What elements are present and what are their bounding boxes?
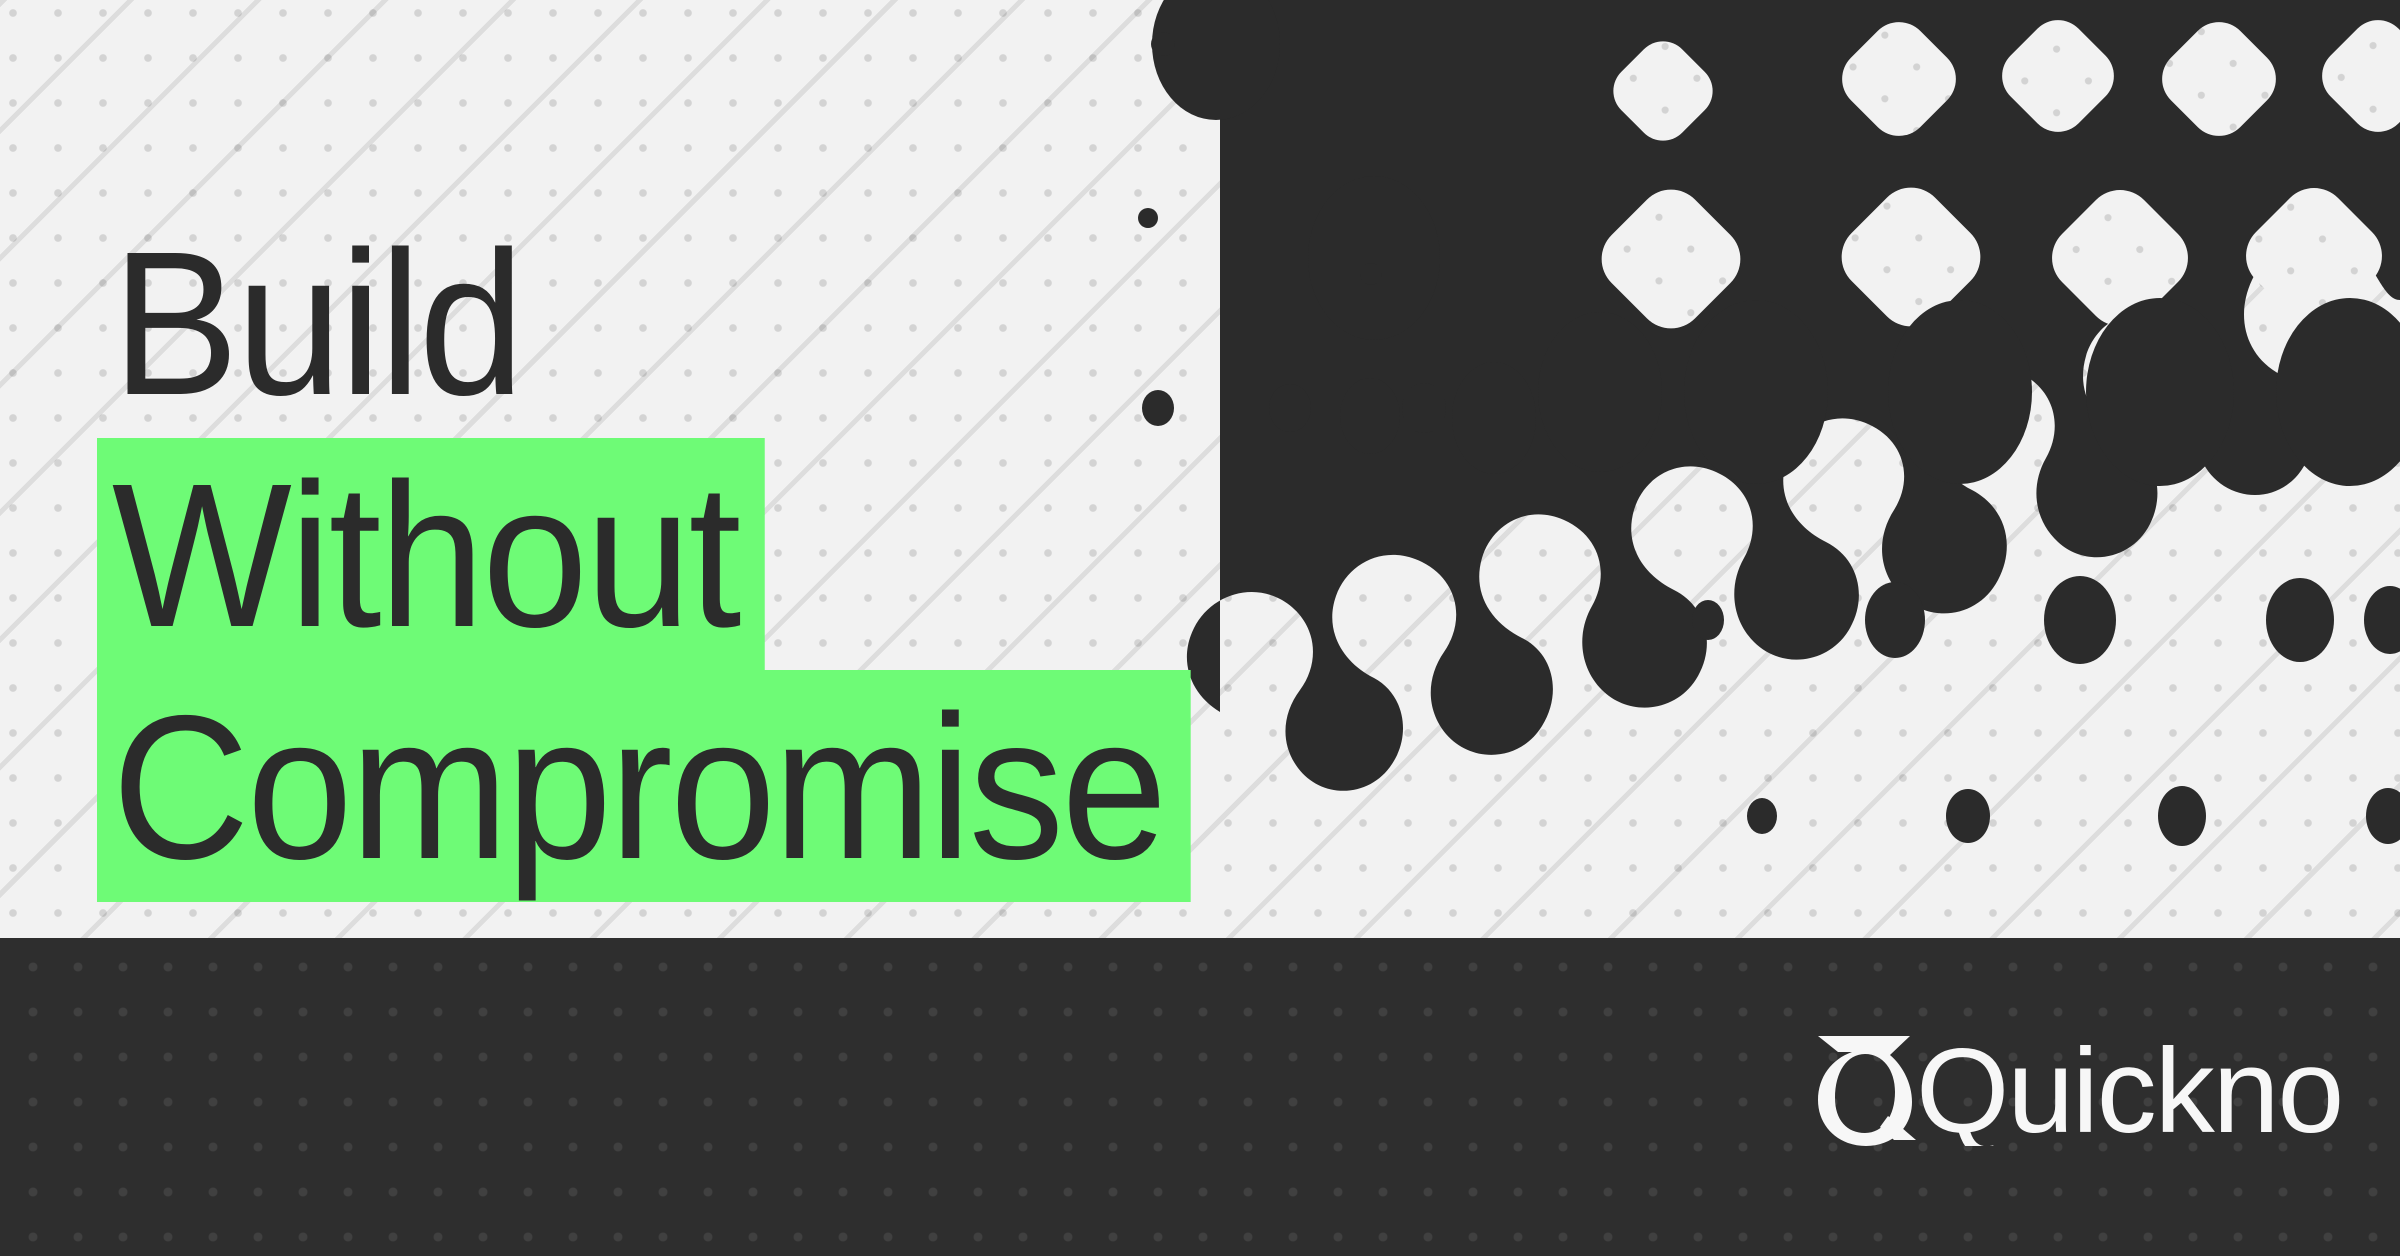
promo-banner: Build Without Compromise Quicknode	[0, 0, 2400, 1256]
headline-line-1-text: Build	[97, 250, 522, 398]
headline: Build Without Compromise	[97, 206, 1273, 902]
quicknode-logo: Quicknode	[1812, 1028, 2342, 1146]
headline-line-3-highlight: Compromise	[97, 670, 1191, 902]
quicknode-wordmark: Quicknode	[1916, 1028, 2342, 1146]
headline-line-2-highlight: Without	[97, 438, 765, 670]
headline-line-1: Build	[97, 206, 1191, 438]
headline-line-3-text: Compromise	[97, 714, 1165, 862]
headline-line-2-text: Without	[97, 482, 739, 630]
quicknode-q-mark	[1818, 1036, 1916, 1146]
